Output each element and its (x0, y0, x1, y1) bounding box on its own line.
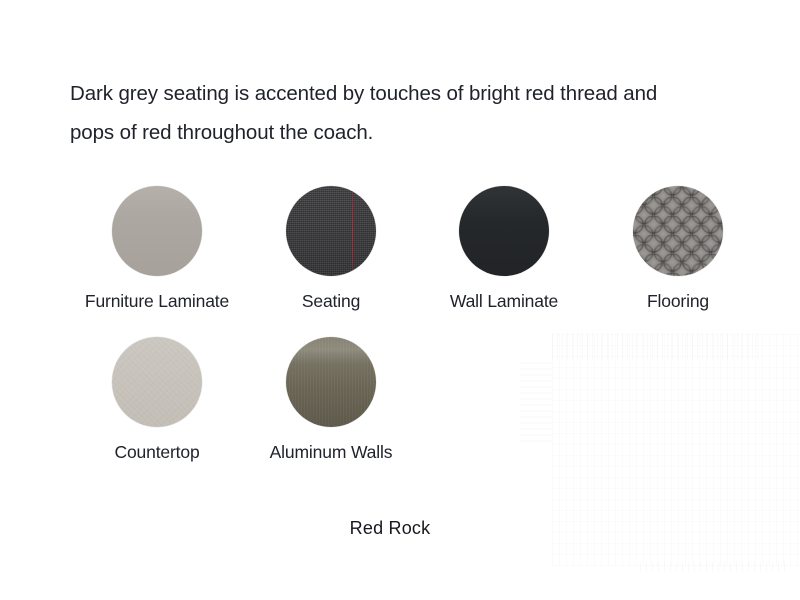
swatch-row: Countertop Aluminum Walls (0, 337, 800, 488)
swatch-item-countertop[interactable]: Countertop (70, 337, 244, 462)
seating-swatch-icon (286, 186, 376, 276)
swatch-item-wall-laminate[interactable]: Wall Laminate (417, 186, 591, 311)
swatch-item-flooring[interactable]: Flooring (591, 186, 765, 311)
swatch-item-aluminum-walls[interactable]: Aluminum Walls (244, 337, 418, 462)
furniture-laminate-swatch-icon (112, 186, 202, 276)
aluminum-walls-swatch-icon (286, 337, 376, 427)
swatch-item-furniture-laminate[interactable]: Furniture Laminate (70, 186, 244, 311)
ghost-ruler-ticks (640, 562, 790, 572)
material-swatch-grid: Furniture Laminate Seating Wall Laminate… (0, 186, 800, 488)
swatch-item-seating[interactable]: Seating (244, 186, 418, 311)
swatch-label: Furniture Laminate (70, 291, 244, 311)
wall-laminate-swatch-icon (459, 186, 549, 276)
description-line-1: Dark grey seating is accented by touches… (70, 74, 760, 113)
footer-caption-text: Red Rock (350, 518, 431, 539)
flooring-swatch-icon (633, 186, 723, 276)
stud-pattern-icon (633, 186, 723, 276)
swatch-label: Flooring (591, 291, 765, 311)
swatch-label: Aluminum Walls (244, 442, 418, 462)
swatch-label: Wall Laminate (417, 291, 591, 311)
swatch-label: Countertop (70, 442, 244, 462)
countertop-swatch-icon (112, 337, 202, 427)
swatch-row: Furniture Laminate Seating Wall Laminate… (0, 186, 800, 337)
footer-caption: Red Rock (0, 518, 800, 539)
description-line-2: pops of red throughout the coach. (70, 113, 760, 152)
description-text: Dark grey seating is accented by touches… (70, 74, 760, 152)
red-thread-icon (352, 186, 353, 276)
swatch-label: Seating (244, 291, 418, 311)
